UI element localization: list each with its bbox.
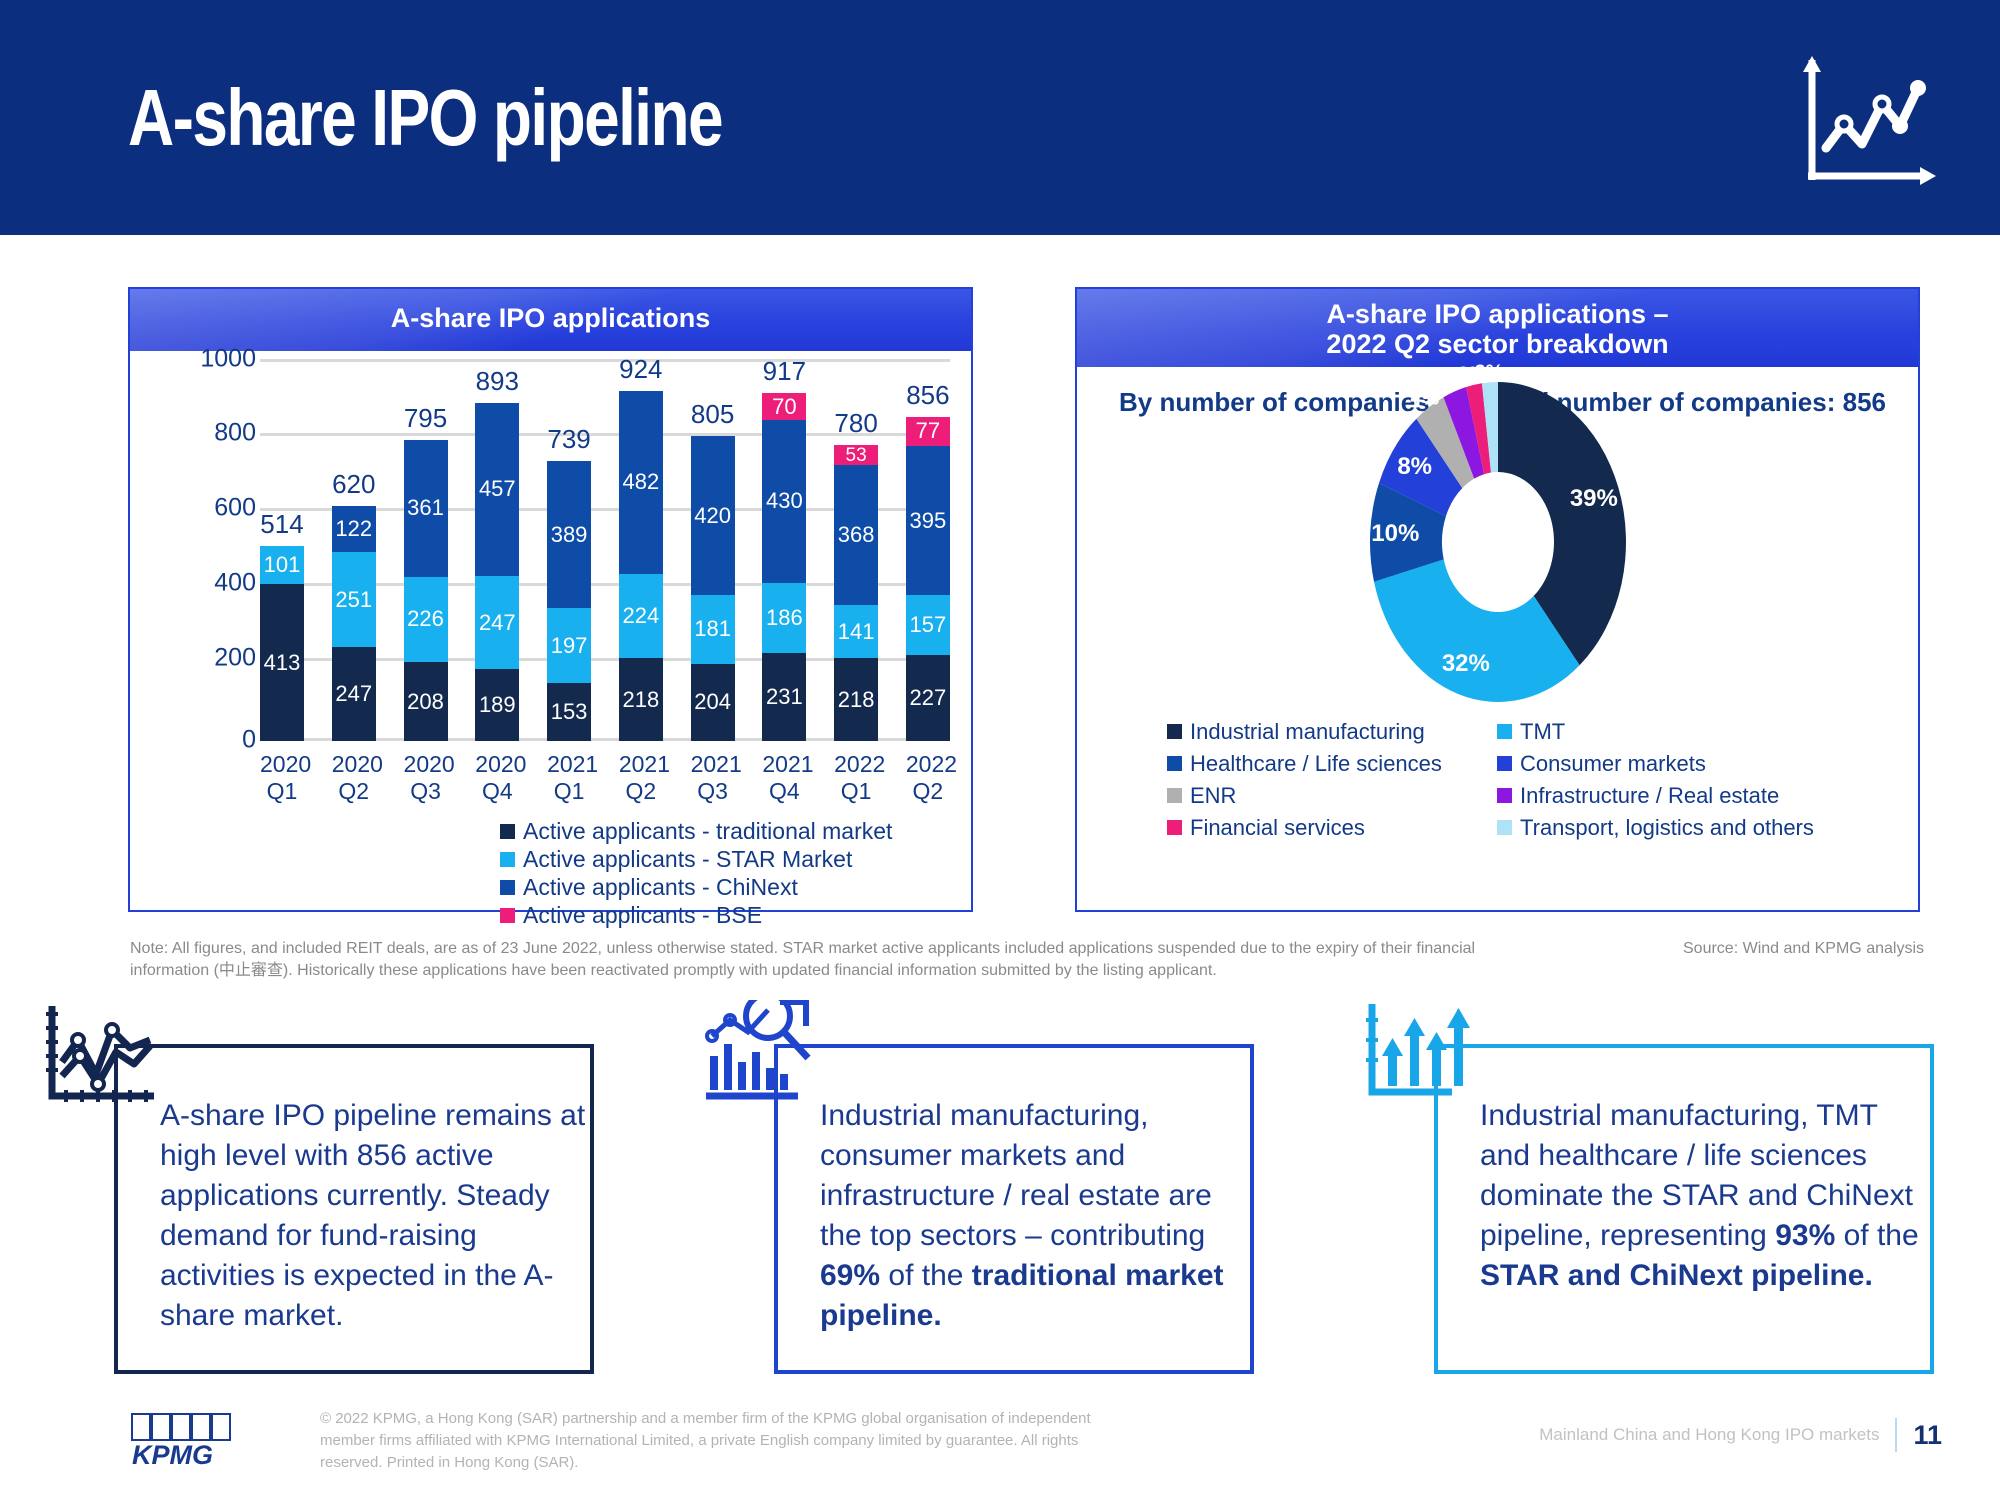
donut-chart-title: A-share IPO applications – 2022 Q2 secto… <box>1077 289 1918 359</box>
legend-swatch <box>1497 820 1512 835</box>
bar-column: 514101413 <box>260 359 304 741</box>
donut-slice-label: 32% <box>1442 650 1490 678</box>
donut-title-line-1: A-share IPO applications – <box>1326 299 1668 329</box>
x-axis-label-line: 2020 <box>404 751 448 778</box>
bar-total-label: 917 <box>763 356 806 387</box>
legend-swatch <box>1167 820 1182 835</box>
bar-segment-value: 227 <box>910 687 947 709</box>
bar-segment: 101 <box>260 546 304 584</box>
bar-segment-value: 420 <box>694 505 731 527</box>
legend-label: Active applicants - ChiNext <box>523 875 798 900</box>
legend-label: Consumer markets <box>1520 751 1706 776</box>
bar-segment-value: 457 <box>479 478 516 500</box>
bar-total-label: 924 <box>619 354 662 385</box>
callout-3-mid: of the <box>1835 1219 1918 1252</box>
bar-segment-value: 413 <box>264 652 301 674</box>
legend-label: Active applicants - BSE <box>523 903 762 928</box>
legend-item[interactable]: Active applicants - traditional market <box>500 819 892 844</box>
bar-column: 924482224218 <box>619 359 663 741</box>
bar-segment: 430 <box>762 420 806 583</box>
line-chart-icon <box>42 1000 162 1110</box>
legend-label: Active applicants - traditional market <box>523 819 892 844</box>
bar-segment-value: 224 <box>622 605 659 627</box>
bar-segment: 197 <box>547 608 591 683</box>
x-axis-label: 2021Q1 <box>547 751 591 805</box>
callout-3-bold-2: STAR and ChiNext pipeline. <box>1480 1259 1873 1292</box>
legend-item[interactable]: Transport, logistics and others <box>1497 815 1827 840</box>
bar-chart-card-header: A-share IPO applications <box>130 289 971 351</box>
bar-segment: 218 <box>619 658 663 741</box>
legend-item[interactable]: Infrastructure / Real estate <box>1497 783 1827 808</box>
legend-label: Industrial manufacturing <box>1190 719 1425 744</box>
x-axis-label-line: 2022 <box>906 751 950 778</box>
y-tick-0: 0 <box>242 726 256 755</box>
bar-segment-value: 218 <box>838 689 875 711</box>
bar-segment-value: 157 <box>910 614 947 636</box>
bar-column: 91770430186231 <box>762 359 806 741</box>
x-axis-label: 2020Q4 <box>475 751 519 805</box>
y-tick-200: 200 <box>214 644 256 673</box>
donut-chart-body: By number of companies Total number of c… <box>1077 367 1918 851</box>
growth-arrows-icon <box>1362 1000 1482 1110</box>
legend-label: ENR <box>1190 783 1236 808</box>
x-axis-label: 2022Q1 <box>834 751 878 805</box>
x-axis-label-line: 2020 <box>475 751 519 778</box>
bar-segment: 457 <box>475 403 519 576</box>
slide-header: A-share IPO pipeline <box>0 0 2000 235</box>
x-axis-label-line: 2021 <box>547 751 591 778</box>
bar-segment: 208 <box>404 662 448 741</box>
callout-1-text: A-share IPO pipeline remains at high lev… <box>160 1096 590 1336</box>
legend-label: Transport, logistics and others <box>1520 815 1814 840</box>
bar-chart-legend: Active applicants - traditional marketAc… <box>500 819 892 931</box>
x-axis-label-line: Q2 <box>332 778 376 805</box>
donut-chart-card: A-share IPO applications – 2022 Q2 secto… <box>1075 287 1920 912</box>
page-title: A-share IPO pipeline <box>128 78 722 158</box>
bar-segment: 224 <box>619 574 663 659</box>
bar-segment: 181 <box>691 595 735 664</box>
bar-segment: 153 <box>547 683 591 741</box>
legend-item[interactable]: Financial services <box>1167 815 1497 840</box>
legend-item[interactable]: Industrial manufacturing <box>1167 719 1497 744</box>
bar-segment-value: 204 <box>694 691 731 713</box>
legend-item[interactable]: Healthcare / Life sciences <box>1167 751 1497 776</box>
bar-segment-value: 251 <box>335 589 372 611</box>
y-tick-600: 600 <box>214 494 256 523</box>
x-axis-label-line: Q3 <box>691 778 735 805</box>
bar-segment: 247 <box>475 576 519 670</box>
bar-column: 739389197153 <box>547 359 591 741</box>
donut-title-line-2: 2022 Q2 sector breakdown <box>1077 329 1918 359</box>
x-axis-label-line: Q4 <box>762 778 806 805</box>
note-text: Note: All figures, and included REIT dea… <box>130 938 1560 982</box>
bar-segment-value: 77 <box>916 420 940 442</box>
bar-segment-value: 361 <box>407 497 444 519</box>
footer-right: Mainland China and Hong Kong IPO markets… <box>1539 1418 1942 1452</box>
x-axis-label-line: 2020 <box>260 751 304 778</box>
bar-segment: 157 <box>906 595 950 655</box>
bar-segment-value: 226 <box>407 608 444 630</box>
x-axis-label-line: 2021 <box>619 751 663 778</box>
legend-item[interactable]: Consumer markets <box>1497 751 1827 776</box>
bar-chart-magnifier-icon <box>702 1000 822 1110</box>
legend-item[interactable]: TMT <box>1497 719 1827 744</box>
x-axis-label-line: Q4 <box>475 778 519 805</box>
callout-3-bold-1: 93% <box>1775 1219 1835 1252</box>
bar-segment-value: 122 <box>335 518 372 540</box>
x-axis-label-line: Q2 <box>619 778 663 805</box>
copyright-text: © 2022 KPMG, a Hong Kong (SAR) partnersh… <box>320 1408 1120 1474</box>
legend-swatch <box>500 852 515 867</box>
bar-total-label: 795 <box>404 403 447 434</box>
x-axis-label-line: 2021 <box>762 751 806 778</box>
bar-segment: 395 <box>906 446 950 596</box>
bar-total-label: 780 <box>834 408 877 439</box>
bar-segment-value: 181 <box>694 618 731 640</box>
callout-2-prefix: Industrial manufacturing, consumer marke… <box>820 1099 1212 1252</box>
callout-2-text: Industrial manufacturing, consumer marke… <box>820 1096 1255 1336</box>
legend-item[interactable]: Active applicants - STAR Market <box>500 847 892 872</box>
bar-segment: 226 <box>404 577 448 663</box>
bar-segment-value: 247 <box>479 612 516 634</box>
bar-segment-value: 247 <box>335 683 372 705</box>
x-axis-label-line: Q2 <box>906 778 950 805</box>
bar-segment: 70 <box>762 393 806 420</box>
bar-segment: 189 <box>475 669 519 741</box>
bar-total-label: 856 <box>906 380 949 411</box>
y-tick-1000: 1000 <box>200 345 256 374</box>
bar-segment: 204 <box>691 664 735 741</box>
page-number: 11 <box>1913 1420 1942 1451</box>
footer-divider <box>1895 1418 1897 1452</box>
legend-item[interactable]: Active applicants - ChiNext <box>500 875 892 900</box>
bar-segment: 247 <box>332 647 376 741</box>
donut-slice-label: 2% <box>1475 361 1504 384</box>
legend-label: Healthcare / Life sciences <box>1190 751 1442 776</box>
legend-item[interactable]: ENR <box>1167 783 1497 808</box>
bar-total-label: 893 <box>476 366 519 397</box>
legend-swatch <box>1497 756 1512 771</box>
bar-segment: 420 <box>691 436 735 595</box>
bar-segment: 227 <box>906 655 950 741</box>
bar-segment: 218 <box>834 658 878 741</box>
bar-segment: 231 <box>762 653 806 741</box>
bar-segment-value: 141 <box>838 621 875 643</box>
donut-chart-legend: Industrial manufacturingTMTHealthcare / … <box>1167 719 1847 843</box>
bar-column: 620122251247 <box>332 359 376 741</box>
x-axis-label: 2021Q2 <box>619 751 663 805</box>
bar-segment-value: 101 <box>264 554 301 576</box>
svg-text:KPMG: KPMG <box>132 1440 213 1470</box>
bar-segment: 389 <box>547 461 591 608</box>
bar-segment-value: 389 <box>551 524 588 546</box>
legend-swatch <box>1167 756 1182 771</box>
legend-swatch <box>1497 788 1512 803</box>
bar-segment-value: 395 <box>910 510 947 532</box>
bar-total-label: 620 <box>332 469 375 500</box>
x-axis-label: 2021Q4 <box>762 751 806 805</box>
line-chart-up-icon <box>1790 52 1940 192</box>
donut-slice-label: 39% <box>1570 485 1618 513</box>
bar-segment: 122 <box>332 506 376 552</box>
x-axis-label-line: 2022 <box>834 751 878 778</box>
legend-item[interactable]: Active applicants - BSE <box>500 903 892 928</box>
bar-segment-value: 153 <box>551 701 588 723</box>
bar-segment-value: 208 <box>407 691 444 713</box>
bar-segment-value: 186 <box>766 607 803 629</box>
callout-3-text: Industrial manufacturing, TMT and health… <box>1480 1096 1935 1296</box>
y-tick-400: 400 <box>214 569 256 598</box>
bar-plot-area: 5141014136201222512477953612262088934572… <box>260 359 950 741</box>
legend-label: Financial services <box>1190 815 1365 840</box>
bar-segment: 482 <box>619 391 663 574</box>
y-tick-800: 800 <box>214 419 256 448</box>
source-text: Source: Wind and KPMG analysis <box>1683 938 1924 960</box>
x-axis-label-line: Q1 <box>260 778 304 805</box>
x-axis-label: 2021Q3 <box>691 751 735 805</box>
legend-label: Infrastructure / Real estate <box>1520 783 1779 808</box>
legend-swatch <box>1497 724 1512 739</box>
x-axis-label-line: 2020 <box>332 751 376 778</box>
x-axis-label-line: Q1 <box>834 778 878 805</box>
bar-total-label: 805 <box>691 399 734 430</box>
footer-doc-title: Mainland China and Hong Kong IPO markets <box>1539 1425 1879 1445</box>
bar-segment: 368 <box>834 465 878 604</box>
bar-segment-value: 430 <box>766 490 803 512</box>
legend-label: Active applicants - STAR Market <box>523 847 852 872</box>
bar-segment: 53 <box>834 445 878 465</box>
x-axis-label: 2020Q3 <box>404 751 448 805</box>
x-axis-label: 2020Q1 <box>260 751 304 805</box>
bar-total-label: 514 <box>260 509 303 540</box>
bar-column: 805420181204 <box>691 359 735 741</box>
x-axis-label-line: 2021 <box>691 751 735 778</box>
bar-segment-value: 482 <box>622 471 659 493</box>
x-axis-labels: 2020Q12020Q22020Q32020Q42021Q12021Q22021… <box>260 751 950 805</box>
legend-label: TMT <box>1520 719 1565 744</box>
donut-chart-card-header: A-share IPO applications – 2022 Q2 secto… <box>1077 289 1918 367</box>
bar-segment-value: 197 <box>551 635 588 657</box>
bar-total-label: 739 <box>547 424 590 455</box>
bar-segment: 251 <box>332 552 376 647</box>
bar-segment-value: 368 <box>838 524 875 546</box>
bar-segment: 413 <box>260 584 304 741</box>
bar-segment-value: 53 <box>846 446 867 465</box>
kpmg-logo: KPMG <box>128 1410 238 1470</box>
legend-swatch <box>1167 788 1182 803</box>
bar-chart-title: A-share IPO applications <box>130 289 971 333</box>
donut-slice-label: 4% <box>1410 387 1439 410</box>
bar-segment: 361 <box>404 440 448 577</box>
y-axis-labels: 1000 800 600 400 200 0 <box>156 351 256 751</box>
callout-2-bold-1: 69% <box>820 1259 880 1292</box>
bar-chart-plot: 1000 800 600 400 200 0 51410141362012225… <box>130 351 971 851</box>
legend-swatch <box>500 824 515 839</box>
bar-segment: 186 <box>762 583 806 653</box>
bar-segment: 77 <box>906 417 950 446</box>
donut-slice-label: 8% <box>1397 453 1432 481</box>
legend-swatch <box>500 908 515 923</box>
bar-column: 893457247189 <box>475 359 519 741</box>
bar-segment-value: 70 <box>772 396 796 418</box>
x-axis-label: 2022Q2 <box>906 751 950 805</box>
bar-column: 85677395157227 <box>906 359 950 741</box>
bar-series-container: 5141014136201222512477953612262088934572… <box>260 359 950 741</box>
bar-column: 795361226208 <box>404 359 448 741</box>
x-axis-label-line: Q3 <box>404 778 448 805</box>
x-axis-label: 2020Q2 <box>332 751 376 805</box>
x-axis-label-line: Q1 <box>547 778 591 805</box>
callout-2-mid: of the <box>880 1259 972 1292</box>
donut-graphic: 39%32%10%8%4%3%2%2% <box>1318 377 1678 707</box>
bar-column: 78053368141218 <box>834 359 878 741</box>
bar-chart-card: A-share IPO applications 1000 800 600 40… <box>128 287 973 912</box>
bar-segment-value: 231 <box>766 686 803 708</box>
bar-segment-value: 189 <box>479 694 516 716</box>
bar-segment-value: 218 <box>622 689 659 711</box>
donut-slice-label: 10% <box>1371 520 1419 548</box>
legend-swatch <box>1167 724 1182 739</box>
bar-segment: 141 <box>834 605 878 658</box>
legend-swatch <box>500 880 515 895</box>
